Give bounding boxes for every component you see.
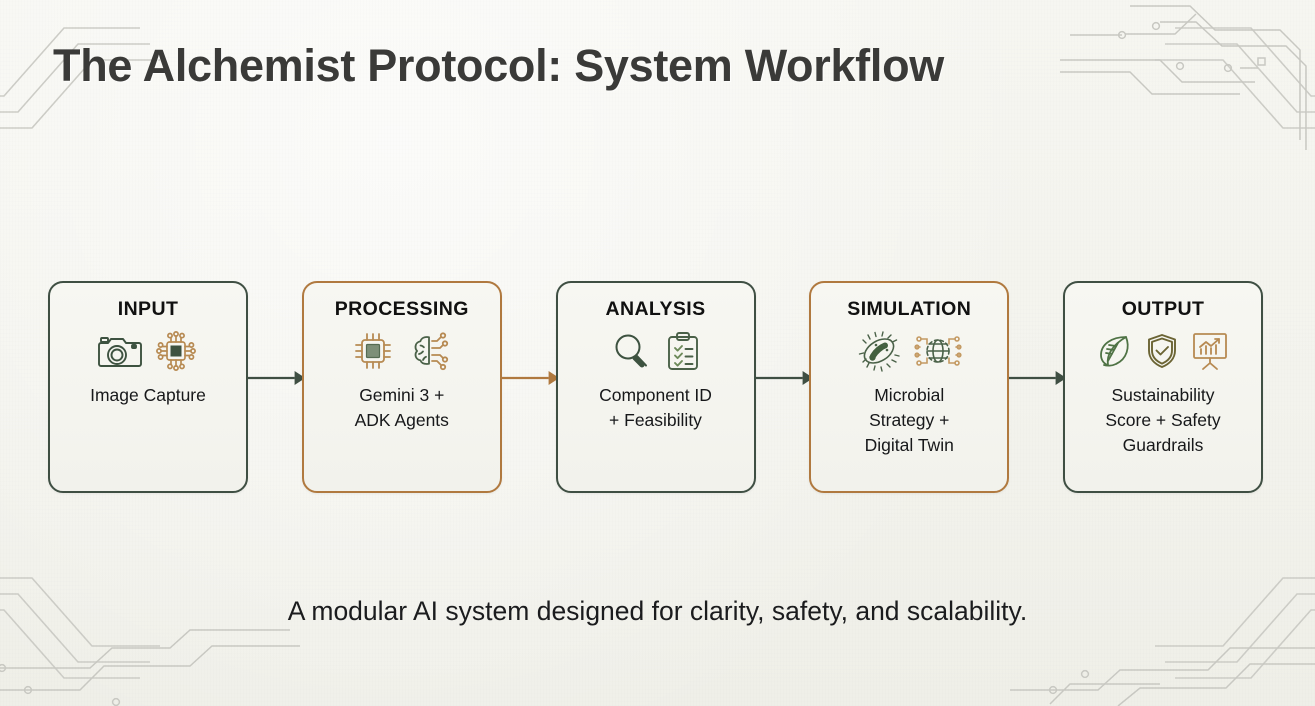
brain-circuit-icon xyxy=(405,329,453,373)
shield-check-icon xyxy=(1144,331,1180,371)
stage-desc-processing: Gemini 3 + ADK Agents xyxy=(312,383,492,433)
stage-icons-processing xyxy=(312,324,492,378)
stage-title-processing: PROCESSING xyxy=(312,299,492,320)
stage-icons-input xyxy=(58,324,238,378)
stage-card-analysis[interactable]: ANALYSIS Compo xyxy=(556,281,756,493)
arrow-analysis-to-simulation xyxy=(756,281,810,493)
stage-desc-line: Sustainability xyxy=(1073,383,1253,408)
workflow-diagram: INPUT xyxy=(48,281,1263,493)
chart-presentation-icon xyxy=(1190,330,1230,372)
connector-3 xyxy=(756,281,810,493)
stage-desc-line: Strategy + xyxy=(819,408,999,433)
stage-card-processing[interactable]: PROCESSING xyxy=(302,281,502,493)
stage-desc-line: Component ID xyxy=(566,383,746,408)
stage-desc-output: Sustainability Score + Safety Guardrails xyxy=(1073,383,1253,458)
stage-desc-line: + Feasibility xyxy=(566,408,746,433)
stage-card-output[interactable]: OUTPUT xyxy=(1063,281,1263,493)
arrow-input-to-processing xyxy=(248,281,302,493)
globe-network-icon xyxy=(914,329,962,373)
stage-card-simulation[interactable]: SIMULATION xyxy=(809,281,1009,493)
stage-desc-simulation: Microbial Strategy + Digital Twin xyxy=(819,383,999,458)
stage-title-output: OUTPUT xyxy=(1073,299,1253,320)
connector-1 xyxy=(248,281,302,493)
connector-2 xyxy=(502,281,556,493)
stage-title-simulation: SIMULATION xyxy=(819,299,999,320)
stage-desc-line: Digital Twin xyxy=(819,433,999,458)
clipboard-checklist-icon xyxy=(663,329,703,373)
leaf-icon xyxy=(1096,331,1134,371)
stage-desc-line: Score + Safety xyxy=(1073,408,1253,433)
cpu-chip-icon xyxy=(351,329,395,373)
stage-desc-line: Gemini 3 + xyxy=(312,383,492,408)
microchip-icon xyxy=(153,329,199,373)
stage-desc-line: ADK Agents xyxy=(312,408,492,433)
camera-icon xyxy=(97,331,143,371)
stage-icons-simulation xyxy=(819,324,999,378)
footer-caption: A modular AI system designed for clarity… xyxy=(0,596,1315,627)
arrow-processing-to-analysis xyxy=(502,281,556,493)
slide-canvas: The Alchemist Protocol: System Workflow … xyxy=(0,0,1315,706)
page-title: The Alchemist Protocol: System Workflow xyxy=(53,40,944,92)
stage-icons-output xyxy=(1073,324,1253,378)
arrow-simulation-to-output xyxy=(1009,281,1063,493)
microbe-icon xyxy=(856,329,904,373)
stage-card-input[interactable]: INPUT xyxy=(48,281,248,493)
stage-desc-line: Microbial xyxy=(819,383,999,408)
stage-desc-line: Guardrails xyxy=(1073,433,1253,458)
magnifier-icon xyxy=(609,329,653,373)
stage-desc-input: Image Capture xyxy=(58,383,238,408)
stage-icons-analysis xyxy=(566,324,746,378)
stage-title-analysis: ANALYSIS xyxy=(566,299,746,320)
stage-title-input: INPUT xyxy=(58,299,238,320)
stage-desc-analysis: Component ID + Feasibility xyxy=(566,383,746,433)
connector-4 xyxy=(1009,281,1063,493)
